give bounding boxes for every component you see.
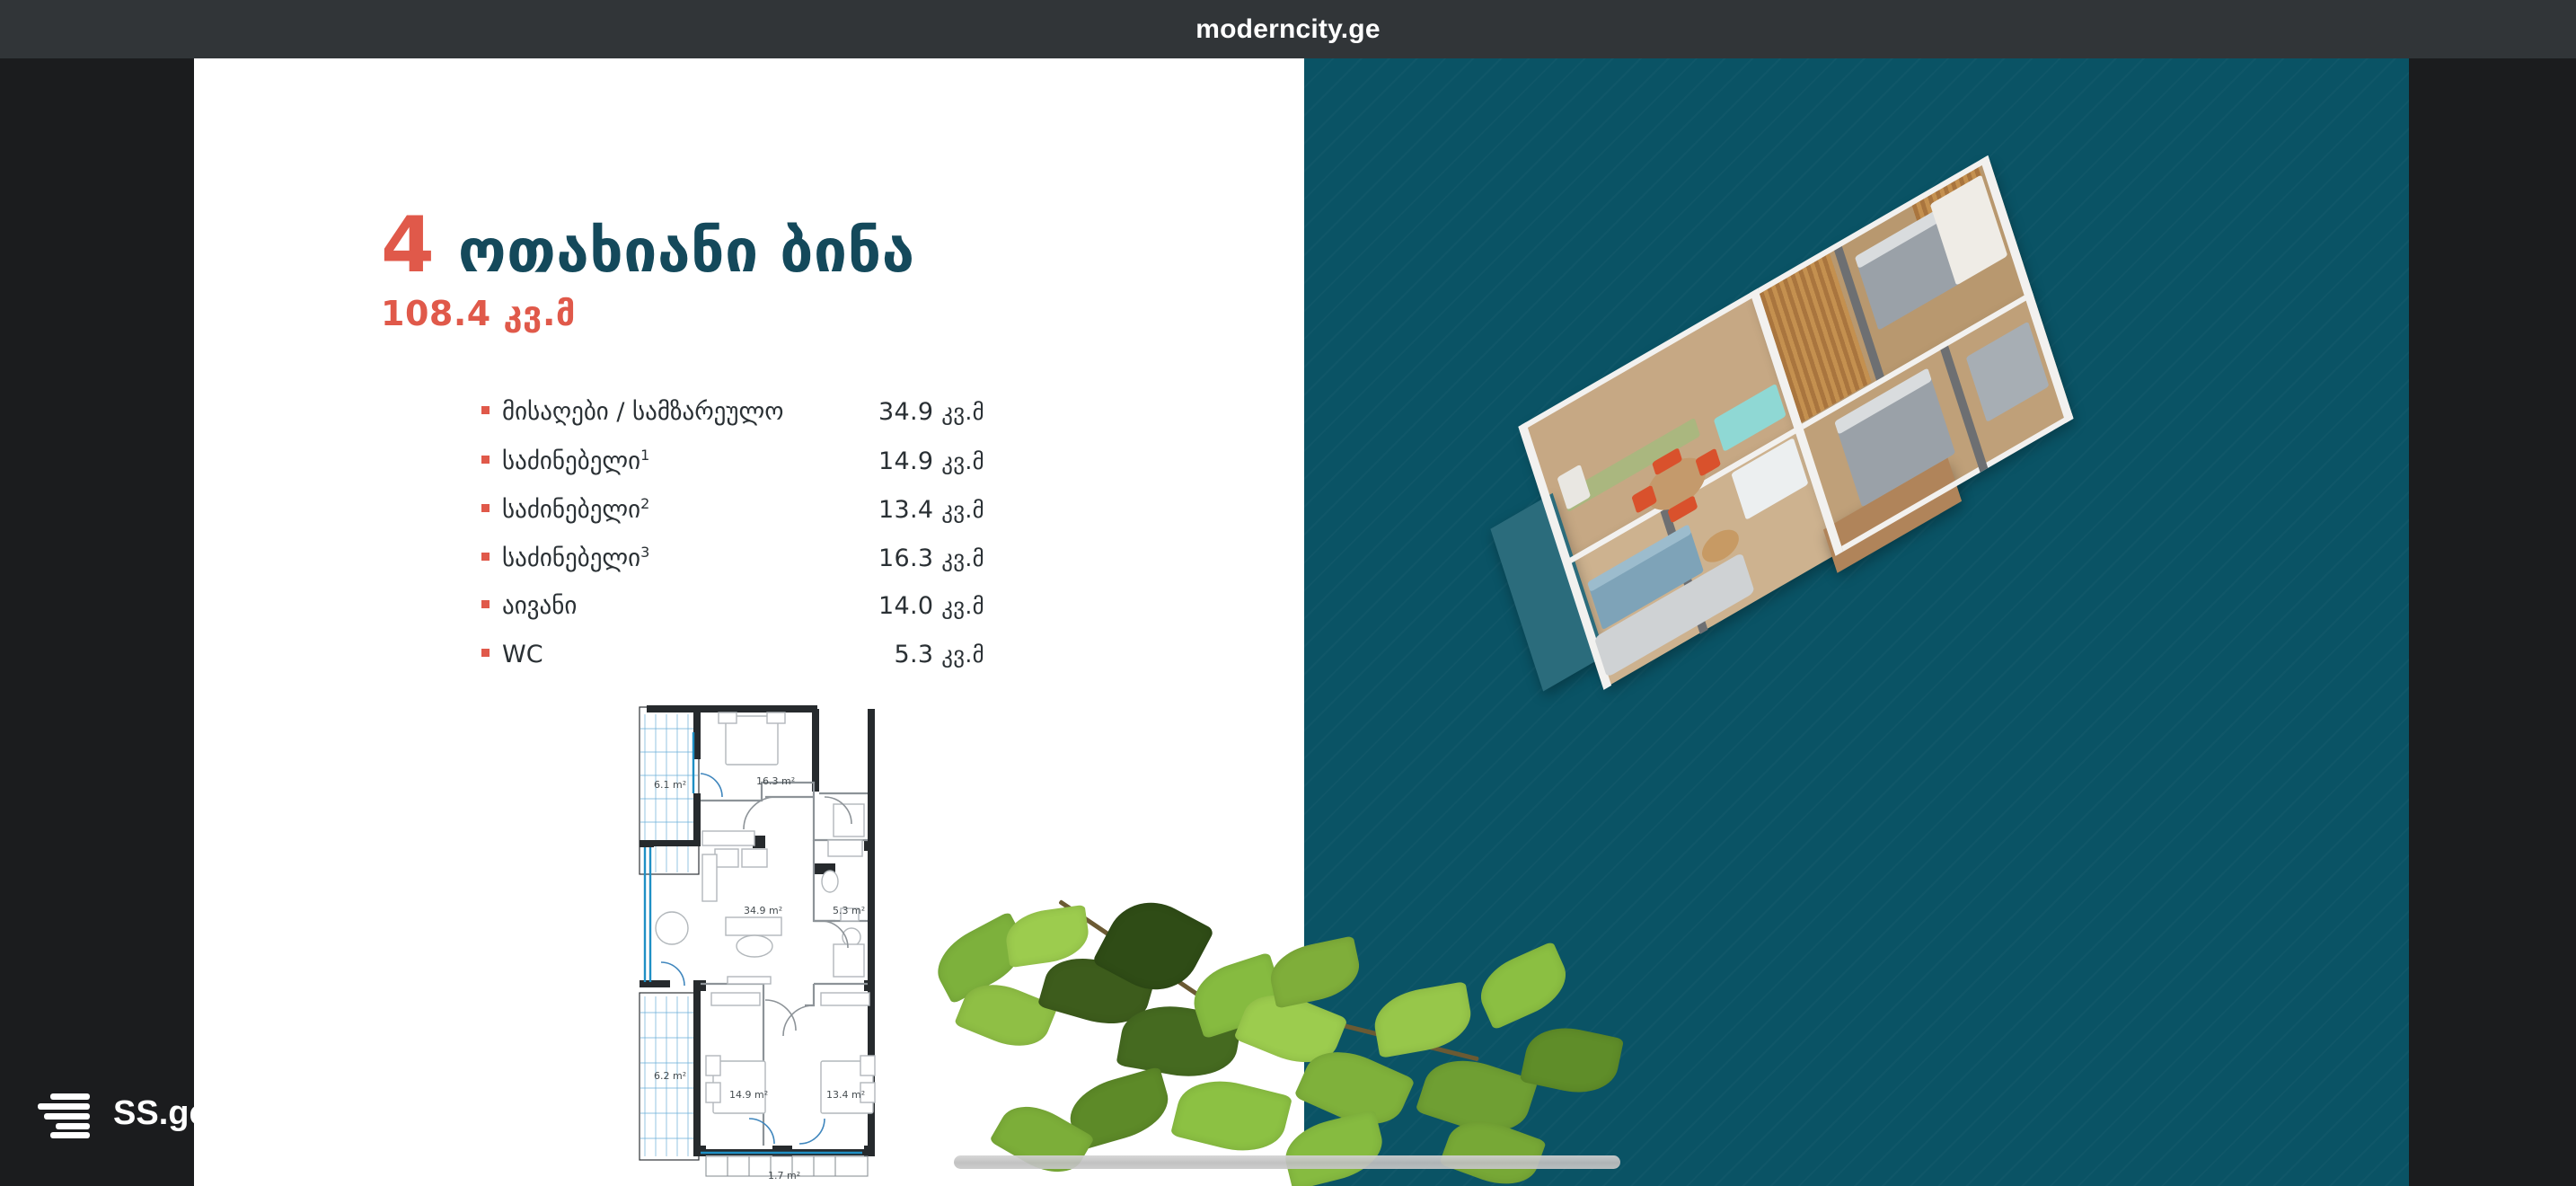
floor-plan-area-label: 5.3 m² [833,905,865,916]
plant-photo-overlay [907,921,1626,1186]
bullet-icon [481,649,490,657]
room-index-superscript: 1 [640,447,649,464]
isometric-model [1484,109,2127,727]
headline-total-area: 108.4 კვ.მ [381,294,915,333]
bullet-icon [481,456,490,464]
site-title: moderncity.ge [1195,14,1380,45]
floor-plan-area-label: 13.4 m² [826,1089,865,1101]
room-area-value: 13.4 კვ.მ [850,496,984,524]
watermark-text: SS.ge [113,1094,208,1133]
headline-block: 4 ოთახიანი ბინა 108.4 კვ.მ [381,209,915,333]
room-index-superscript: 3 [640,544,649,561]
room-label: მისაღები / სამზარეულო [502,398,850,426]
bullet-icon [481,504,490,512]
viewer-topbar: moderncity.ge [0,0,2576,58]
floor-plan-drawing: 6.1 m²16.3 m²34.9 m²5.3 m²6.2 m²14.9 m²1… [629,696,898,1186]
scrollbar-thumb[interactable] [954,1155,1620,1169]
horizontal-scrollbar[interactable] [0,1152,2576,1175]
room-area-unit: კვ.მ [941,593,984,619]
room-index-superscript: 2 [640,495,649,512]
headline-room-count: 4 [381,209,435,283]
room-row: მისაღები / სამზარეულო34.9 კვ.მ [481,398,984,447]
lines-logo-icon [38,1092,93,1135]
room-label: აივანი [502,592,850,620]
bullet-icon [481,600,490,608]
floor-plan-svg [629,696,898,1186]
bullet-icon [481,553,490,561]
room-area-unit: კვ.მ [941,448,984,474]
room-label: საძინებელი3 [502,544,850,572]
room-area-value: 16.3 კვ.მ [850,544,984,572]
bullet-icon [481,406,490,414]
room-row: WC5.3 კვ.მ [481,641,984,689]
room-label: WC [502,641,850,668]
room-area-value: 34.9 კვ.მ [850,398,984,426]
room-area-list: მისაღები / სამზარეულო34.9 კვ.მსაძინებელი… [481,398,984,689]
floor-plan-area-label: 16.3 m² [756,775,795,787]
room-area-unit: კვ.მ [941,399,984,425]
floor-plan-area-label: 6.1 m² [654,779,686,791]
watermark-logo: SS.ge [38,1092,208,1135]
headline-title: ოთახიანი ბინა [458,222,915,281]
room-row: საძინებელი213.4 კვ.მ [481,495,984,544]
apartment-3d-render [1491,166,2299,849]
room-row: აივანი14.0 კვ.მ [481,592,984,641]
room-area-value: 14.0 კვ.მ [850,592,984,620]
room-area-unit: კვ.მ [941,497,984,523]
viewer-root: moderncity.ge 4 ოთახიანი ბინა 108.4 კვ.მ… [0,0,2576,1186]
room-row: საძინებელი114.9 კვ.მ [481,447,984,495]
slide-stage[interactable]: 4 ოთახიანი ბინა 108.4 კვ.მ მისაღები / სა… [0,58,2576,1186]
room-area-unit: კვ.მ [941,545,984,571]
floor-plan-area-label: 6.2 m² [654,1070,686,1082]
room-label: საძინებელი2 [502,495,850,524]
floor-plan-area-label: 14.9 m² [729,1089,768,1101]
room-area-value: 14.9 კვ.მ [850,447,984,475]
room-area-unit: კვ.მ [941,642,984,668]
room-label: საძინებელი1 [502,447,850,475]
floor-plan-area-label: 34.9 m² [744,905,782,916]
room-area-value: 5.3 კვ.მ [850,641,984,668]
room-row: საძინებელი316.3 კვ.მ [481,544,984,592]
